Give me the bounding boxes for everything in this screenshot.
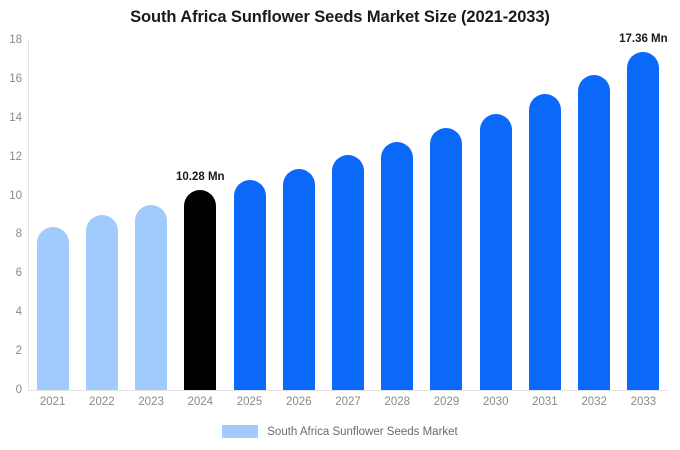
y-tick-label: 16 <box>0 73 22 85</box>
bar-group[interactable] <box>332 40 364 390</box>
y-tick-label: 8 <box>0 228 22 240</box>
bar-chart: South Africa Sunflower Seeds Market Size… <box>0 0 680 450</box>
bar-2033[interactable] <box>627 52 659 390</box>
bar-group[interactable] <box>86 40 118 390</box>
bar-2030[interactable] <box>480 114 512 390</box>
legend-swatch-icon <box>222 425 258 438</box>
bar-2032[interactable] <box>578 75 610 390</box>
y-tick-label: 18 <box>0 34 22 46</box>
bar-2025[interactable] <box>234 180 266 390</box>
bar-2029[interactable] <box>430 128 462 391</box>
y-tick-label: 0 <box>0 384 22 396</box>
bar-2024[interactable] <box>184 190 216 390</box>
legend-label: South Africa Sunflower Seeds Market <box>267 426 458 438</box>
bar-group[interactable] <box>480 40 512 390</box>
bar-value-label-2033: 17.36 Mn <box>619 33 668 45</box>
y-tick-label: 10 <box>0 190 22 202</box>
plot-area: 10.28 Mn17.36 Mn <box>28 40 668 390</box>
bar-2021[interactable] <box>37 227 69 390</box>
bar-group[interactable] <box>37 40 69 390</box>
bar-group[interactable]: 17.36 Mn <box>627 40 659 390</box>
y-tick-label: 4 <box>0 306 22 318</box>
bar-2027[interactable] <box>332 155 364 390</box>
chart-legend[interactable]: South Africa Sunflower Seeds Market <box>0 425 680 438</box>
y-tick-label: 14 <box>0 112 22 124</box>
bar-group[interactable] <box>135 40 167 390</box>
y-tick-label: 2 <box>0 345 22 357</box>
bar-group[interactable] <box>283 40 315 390</box>
bar-group[interactable] <box>234 40 266 390</box>
bar-2026[interactable] <box>283 169 315 390</box>
bar-value-label-2024: 10.28 Mn <box>176 171 225 183</box>
x-axis-line <box>28 390 668 391</box>
x-tick-label-2033: 2033 <box>613 396 673 408</box>
y-tick-label: 6 <box>0 267 22 279</box>
bar-group[interactable] <box>529 40 561 390</box>
bar-2022[interactable] <box>86 215 118 390</box>
bar-group[interactable] <box>578 40 610 390</box>
bar-2023[interactable] <box>135 205 167 390</box>
bar-2031[interactable] <box>529 94 561 390</box>
bar-2028[interactable] <box>381 142 413 390</box>
y-tick-label: 12 <box>0 151 22 163</box>
y-axis: 024681012141618 <box>0 40 22 390</box>
bar-group[interactable] <box>430 40 462 390</box>
bar-group[interactable]: 10.28 Mn <box>184 40 216 390</box>
chart-title: South Africa Sunflower Seeds Market Size… <box>0 8 680 27</box>
bar-group[interactable] <box>381 40 413 390</box>
